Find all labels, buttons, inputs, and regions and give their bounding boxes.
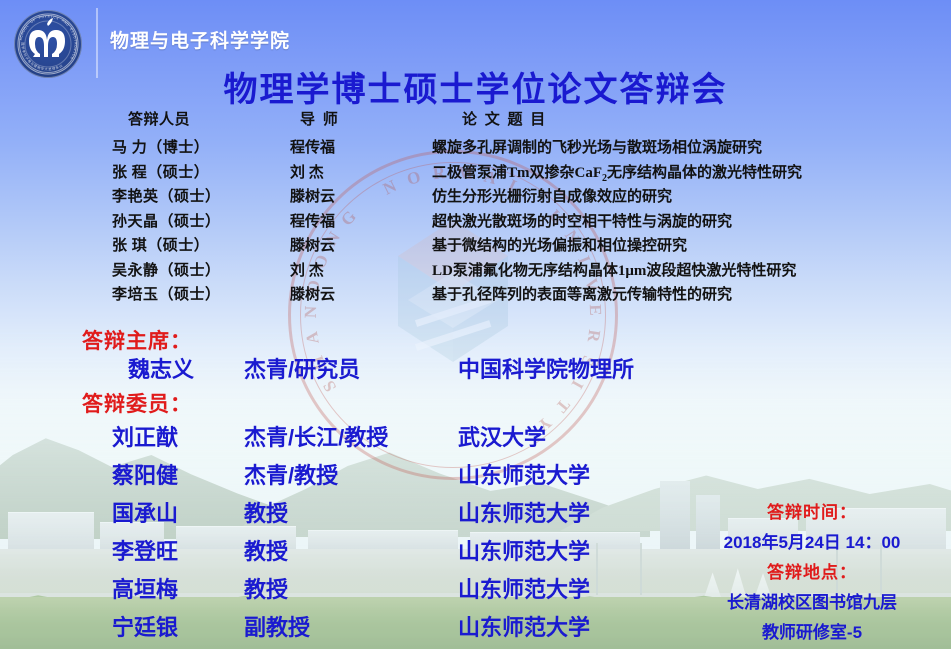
poster-root: SHANDONG NORMAL UNIVERSITY SCHOOL OF PHY… [0, 0, 951, 649]
member-name: 刘正猷 [112, 425, 178, 450]
member-title: 杰青/长江/教授 [244, 425, 388, 450]
member-name: 国承山 [112, 501, 178, 526]
college-name: 物理与电子科学学院 [110, 26, 290, 53]
table-header-row: 答辩人员 导 师 论 文 题 目 [0, 108, 951, 136]
advisor-name: 程传福 [290, 140, 335, 156]
table-row: 马 力（博士）程传福螺旋多孔屏调制的飞秒光场与散斑场相位涡旋研究 [0, 136, 951, 161]
thesis-title: 超快激光散斑场的时空相干特性与涡旋的研究 [432, 214, 732, 230]
member-name: 高垣梅 [112, 577, 178, 602]
chair-name: 魏志义 [128, 357, 194, 382]
member-name: 蔡阳健 [112, 463, 178, 488]
candidate-name: 李培玉（硕士） [112, 287, 221, 303]
header-thesis: 论 文 题 目 [462, 112, 547, 128]
member-affiliation: 山东师范大学 [458, 501, 590, 526]
member-affiliation: 武汉大学 [458, 425, 546, 450]
advisor-name: 程传福 [290, 214, 335, 230]
chair-affiliation: 中国科学院物理所 [458, 357, 634, 382]
member-affiliation: 山东师范大学 [458, 463, 590, 488]
header-candidate: 答辩人员 [128, 112, 190, 128]
place-label: 答辩地点： [687, 558, 937, 588]
page-title: 物理学博士硕士学位论文答辩会 [0, 62, 951, 111]
table-row: 张 程（硕士）刘 杰二极管泵浦Tm双掺杂CaF2无序结构晶体的激光特性研究 [0, 161, 951, 186]
svg-text:F: F [32, 18, 36, 22]
member-affiliation: 山东师范大学 [458, 577, 590, 602]
table-row: 张 琪（硕士）滕树云基于微结构的光场偏振和相位操控研究 [0, 234, 951, 259]
candidate-name: 张 琪（硕士） [112, 238, 209, 254]
watermark-char: N [301, 306, 321, 319]
member-name: 李登旺 [112, 539, 178, 564]
thesis-title: 二极管泵浦Tm双掺杂CaF2无序结构晶体的激光特性研究 [432, 165, 802, 181]
member-title: 教授 [244, 539, 288, 564]
advisor-name: 刘 杰 [290, 165, 324, 181]
member-title: 副教授 [244, 615, 310, 640]
thesis-title: 基于孔径阵列的表面等离激元传输特性的研究 [432, 287, 732, 303]
advisor-name: 滕树云 [290, 189, 335, 205]
advisor-name: 滕树云 [290, 287, 335, 303]
member-name: 宁廷银 [112, 615, 178, 640]
header-advisor: 导 师 [300, 112, 340, 128]
chair-row: 魏志义 杰青/研究员 中国科学院物理所 [0, 352, 951, 382]
table-row: 李培玉（硕士）滕树云基于孔径阵列的表面等离激元传输特性的研究 [0, 283, 951, 308]
committee-member-row: 蔡阳健杰青/教授山东师范大学 [0, 458, 951, 496]
candidate-name: 孙天晶（硕士） [112, 214, 221, 230]
table-row: 李艳英（硕士）滕树云仿生分形光栅衍射自成像效应的研究 [0, 185, 951, 210]
svg-text:D: D [65, 22, 70, 27]
thesis-title: LD泵浦氟化物无序结构晶体1μm波段超快激光特性研究 [432, 263, 796, 279]
place-line-1: 长清湖校区图书馆九层 [687, 588, 937, 618]
committee-member-row: 刘正猷杰青/长江/教授武汉大学 [0, 420, 951, 458]
candidate-name: 张 程（硕士） [112, 165, 209, 181]
thesis-title: 仿生分形光栅衍射自成像效应的研究 [432, 189, 672, 205]
thesis-subscript: 2 [602, 173, 607, 184]
member-affiliation: 山东师范大学 [458, 539, 590, 564]
member-title: 教授 [244, 501, 288, 526]
time-label: 答辩时间： [687, 498, 937, 528]
member-title: 杰青/教授 [244, 463, 338, 488]
advisor-name: 刘 杰 [290, 263, 324, 279]
thesis-title: 螺旋多孔屏调制的飞秒光场与散斑场相位涡旋研究 [432, 140, 762, 156]
advisor-name: 滕树云 [290, 238, 335, 254]
svg-text:S: S [70, 56, 75, 60]
table-body: 马 力（博士）程传福螺旋多孔屏调制的飞秒光场与散斑场相位涡旋研究张 程（硕士）刘… [0, 136, 951, 308]
svg-text:S: S [47, 14, 49, 18]
member-affiliation: 山东师范大学 [458, 615, 590, 640]
candidate-name: 李艳英（硕士） [112, 189, 221, 205]
chair-title: 杰青/研究员 [244, 357, 360, 382]
defense-table: 答辩人员 导 师 论 文 题 目 马 力（博士）程传福螺旋多孔屏调制的飞秒光场与… [0, 108, 951, 308]
svg-text:S: S [56, 16, 59, 20]
defense-info: 答辩时间： 2018年5月24日 14：00 答辩地点： 长清湖校区图书馆九层 … [687, 498, 937, 648]
time-value: 2018年5月24日 14：00 [687, 528, 937, 558]
table-row: 孙天晶（硕士）程传福超快激光散斑场的时空相干特性与涡旋的研究 [0, 210, 951, 235]
chair-label: 答辩主席： [82, 325, 192, 355]
member-title: 教授 [244, 577, 288, 602]
committee-label: 答辩委员： [82, 388, 192, 418]
candidate-name: 吴永静（硕士） [112, 263, 221, 279]
table-row: 吴永静（硕士）刘 杰LD泵浦氟化物无序结构晶体1μm波段超快激光特性研究 [0, 259, 951, 284]
thesis-title: 基于微结构的光场偏振和相位操控研究 [432, 238, 687, 254]
candidate-name: 马 力（博士） [112, 140, 209, 156]
place-line-2: 教师研修室-5 [687, 618, 937, 648]
